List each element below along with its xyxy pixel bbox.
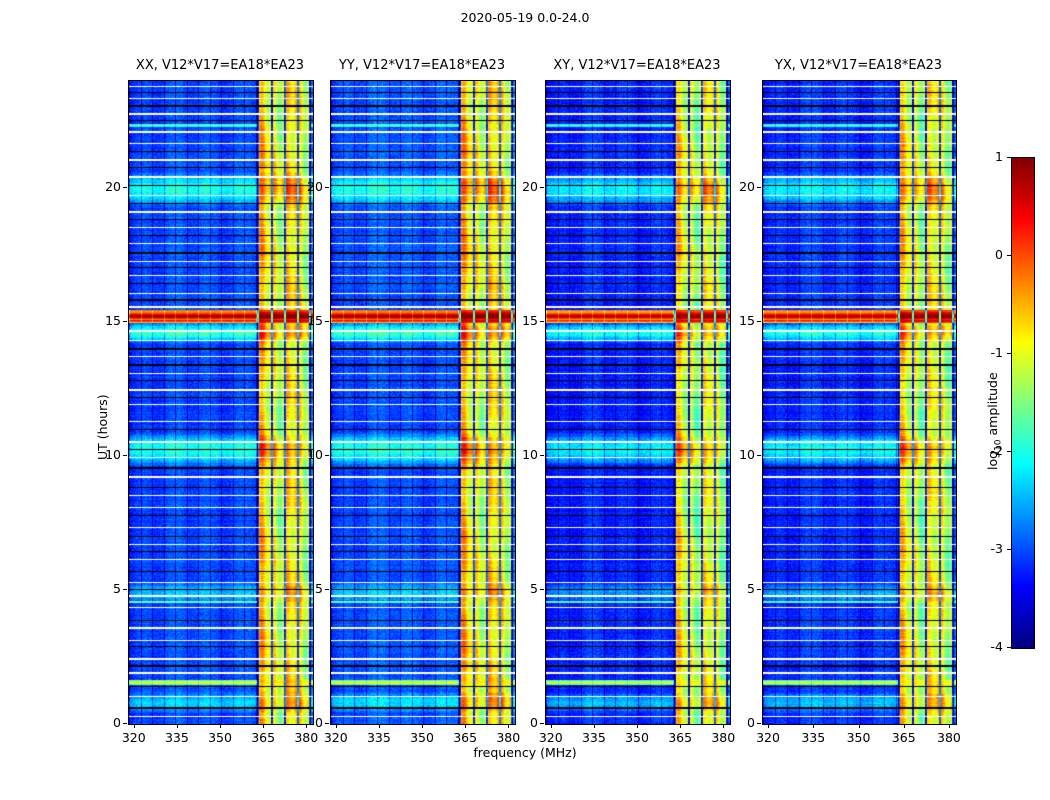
colorbar-tick-label: -3	[971, 541, 1003, 556]
panel-title-yy: YY, V12*V17=EA18*EA23	[330, 58, 514, 73]
x-tick-mark	[768, 724, 769, 728]
x-tick-label: 350	[198, 730, 242, 745]
x-tick-label: 335	[791, 730, 835, 745]
y-tick-label: 20	[282, 179, 323, 194]
y-tick-label: 0	[714, 715, 755, 730]
y-tick-mark	[540, 589, 544, 590]
waterfall-panel-xx[interactable]	[128, 80, 314, 725]
y-tick-label: 20	[80, 179, 121, 194]
x-tick-mark	[680, 724, 681, 728]
x-tick-mark	[904, 724, 905, 728]
y-tick-label: 0	[282, 715, 323, 730]
x-tick-mark	[594, 724, 595, 728]
x-tick-label: 320	[746, 730, 790, 745]
x-tick-mark	[637, 724, 638, 728]
panel-title-yx: YX, V12*V17=EA18*EA23	[762, 58, 955, 73]
x-axis-label: frequency (MHz)	[0, 745, 1050, 760]
x-tick-label: 365	[241, 730, 285, 745]
x-tick-mark	[220, 724, 221, 728]
waterfall-canvas-xx	[129, 81, 313, 724]
y-tick-label: 0	[80, 715, 121, 730]
y-tick-label: 0	[497, 715, 538, 730]
x-tick-mark	[336, 724, 337, 728]
colorbar-tick-label: -1	[971, 345, 1003, 360]
y-tick-mark	[123, 187, 127, 188]
x-tick-mark	[859, 724, 860, 728]
y-tick-label: 5	[714, 581, 755, 596]
colorbar-tick-label: 1	[971, 149, 1003, 164]
x-tick-label: 380	[486, 730, 530, 745]
x-tick-label: 365	[443, 730, 487, 745]
x-tick-mark	[813, 724, 814, 728]
waterfall-panel-yy[interactable]	[330, 80, 516, 725]
y-tick-mark	[123, 589, 127, 590]
y-tick-mark	[123, 321, 127, 322]
y-tick-mark	[325, 321, 329, 322]
y-tick-mark	[540, 321, 544, 322]
x-tick-mark	[465, 724, 466, 728]
waterfall-canvas-yx	[763, 81, 956, 724]
y-tick-label: 15	[80, 313, 121, 328]
x-tick-label: 365	[882, 730, 926, 745]
x-tick-mark	[422, 724, 423, 728]
x-tick-label: 320	[529, 730, 573, 745]
x-tick-mark	[949, 724, 950, 728]
y-tick-mark	[757, 187, 761, 188]
colorbar-tick-label: 0	[971, 247, 1003, 262]
waterfall-panel-xy[interactable]	[545, 80, 731, 725]
waterfall-canvas-xy	[546, 81, 730, 724]
y-tick-label: 5	[80, 581, 121, 596]
x-tick-mark	[263, 724, 264, 728]
y-tick-mark	[540, 187, 544, 188]
y-tick-mark	[123, 723, 127, 724]
colorbar-canvas	[1012, 158, 1034, 648]
y-tick-label: 10	[497, 447, 538, 462]
y-tick-mark	[540, 723, 544, 724]
x-tick-label: 380	[701, 730, 745, 745]
y-tick-label: 10	[714, 447, 755, 462]
colorbar-tick-label: -4	[971, 639, 1003, 654]
colorbar-tick-label: -2	[971, 443, 1003, 458]
panel-title-xy: XY, V12*V17=EA18*EA23	[545, 58, 729, 73]
y-tick-mark	[325, 723, 329, 724]
y-tick-mark	[757, 723, 761, 724]
x-tick-label: 335	[357, 730, 401, 745]
x-tick-label: 320	[314, 730, 358, 745]
colorbar-tick-mark	[1007, 353, 1011, 354]
y-tick-mark	[325, 455, 329, 456]
x-tick-mark	[134, 724, 135, 728]
y-tick-label: 5	[282, 581, 323, 596]
y-tick-label: 15	[497, 313, 538, 328]
y-tick-mark	[325, 589, 329, 590]
y-tick-label: 20	[714, 179, 755, 194]
colorbar-tick-mark	[1007, 549, 1011, 550]
x-tick-label: 350	[400, 730, 444, 745]
x-tick-label: 380	[927, 730, 971, 745]
panel-title-xx: XX, V12*V17=EA18*EA23	[128, 58, 312, 73]
y-tick-mark	[325, 187, 329, 188]
x-tick-label: 365	[658, 730, 702, 745]
y-tick-mark	[540, 455, 544, 456]
x-tick-label: 350	[615, 730, 659, 745]
y-tick-label: 15	[714, 313, 755, 328]
colorbar-tick-mark	[1007, 451, 1011, 452]
y-tick-label: 10	[80, 447, 121, 462]
x-tick-label: 335	[572, 730, 616, 745]
x-tick-mark	[177, 724, 178, 728]
colorbar[interactable]	[1011, 157, 1035, 649]
colorbar-tick-mark	[1007, 255, 1011, 256]
x-tick-mark	[551, 724, 552, 728]
y-tick-label: 20	[497, 179, 538, 194]
x-tick-label: 335	[155, 730, 199, 745]
x-tick-mark	[379, 724, 380, 728]
figure-suptitle: 2020-05-19 0.0-24.0	[0, 10, 1050, 25]
figure-canvas: 2020-05-19 0.0-24.0 XX, V12*V17=EA18*EA2…	[0, 0, 1050, 800]
x-tick-label: 320	[112, 730, 156, 745]
y-tick-label: 5	[497, 581, 538, 596]
colorbar-tick-mark	[1007, 157, 1011, 158]
waterfall-panel-yx[interactable]	[762, 80, 957, 725]
y-tick-mark	[757, 589, 761, 590]
waterfall-canvas-yy	[331, 81, 515, 724]
y-tick-mark	[757, 321, 761, 322]
x-tick-label: 350	[837, 730, 881, 745]
y-tick-mark	[123, 455, 127, 456]
y-tick-mark	[757, 455, 761, 456]
colorbar-label-suffix: amplitude	[985, 372, 1000, 439]
y-tick-label: 10	[282, 447, 323, 462]
colorbar-tick-mark	[1007, 647, 1011, 648]
y-tick-label: 15	[282, 313, 323, 328]
